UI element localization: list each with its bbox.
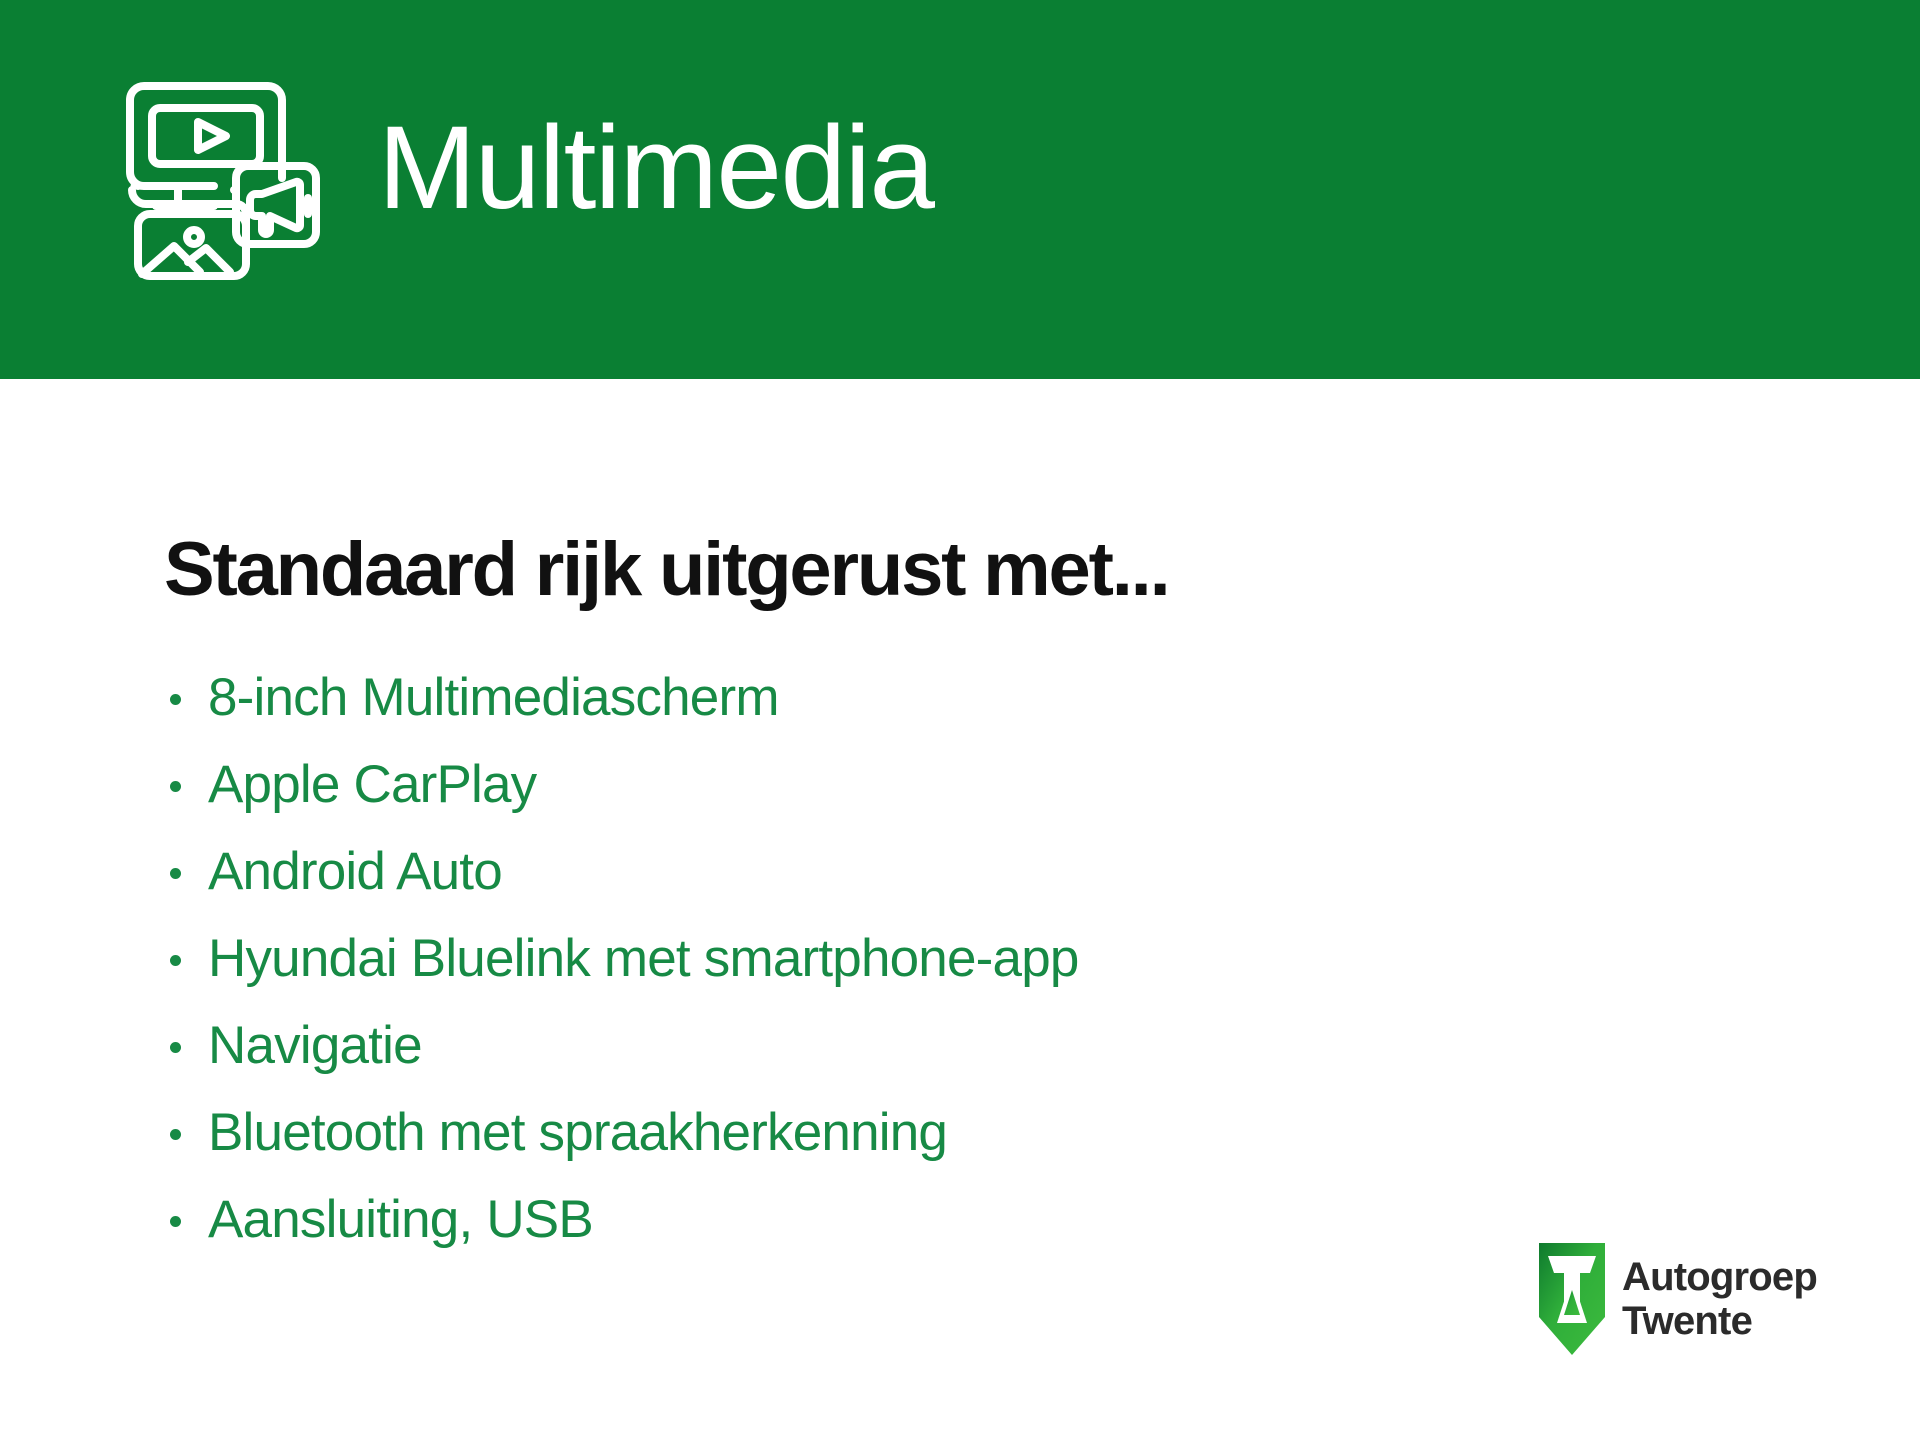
list-item-label: Navigatie	[208, 1016, 422, 1075]
autogroep-twente-shield-icon	[1539, 1243, 1605, 1355]
feature-list: 8-inch Multimediascherm Apple CarPlay An…	[164, 654, 1079, 1263]
list-item: Android Auto	[164, 828, 1079, 915]
list-item-label: 8-inch Multimediascherm	[208, 668, 779, 727]
bullet-icon	[170, 868, 181, 879]
list-item: 8-inch Multimediascherm	[164, 654, 1079, 741]
logo-line-2: Twente	[1622, 1299, 1817, 1343]
brand-logo: Autogroep Twente	[1539, 1243, 1817, 1355]
bullet-icon	[170, 955, 181, 966]
list-item-label: Apple CarPlay	[208, 755, 536, 814]
bullet-icon	[170, 1216, 181, 1227]
logo-line-1: Autogroep	[1622, 1255, 1817, 1299]
header-bar: Multimedia	[0, 0, 1920, 379]
slide: Multimedia Standaard rijk uitgerust met.…	[0, 0, 1920, 1440]
bullet-icon	[170, 694, 181, 705]
multimedia-icon	[118, 74, 330, 286]
list-item-label: Aansluiting, USB	[208, 1190, 593, 1249]
list-item-label: Hyundai Bluelink met smartphone-app	[208, 929, 1079, 988]
page-title: Multimedia	[378, 108, 934, 228]
list-item: Bluetooth met spraakherkenning	[164, 1089, 1079, 1176]
list-item-label: Bluetooth met spraakherkenning	[208, 1103, 947, 1162]
bullet-icon	[170, 1129, 181, 1140]
list-item: Navigatie	[164, 1002, 1079, 1089]
logo-wordmark: Autogroep Twente	[1622, 1255, 1817, 1343]
section-heading: Standaard rijk uitgerust met...	[164, 527, 1168, 613]
list-item: Aansluiting, USB	[164, 1176, 1079, 1263]
bullet-icon	[170, 1042, 181, 1053]
list-item: Hyundai Bluelink met smartphone-app	[164, 915, 1079, 1002]
bullet-icon	[170, 781, 181, 792]
list-item-label: Android Auto	[208, 842, 502, 901]
list-item: Apple CarPlay	[164, 741, 1079, 828]
